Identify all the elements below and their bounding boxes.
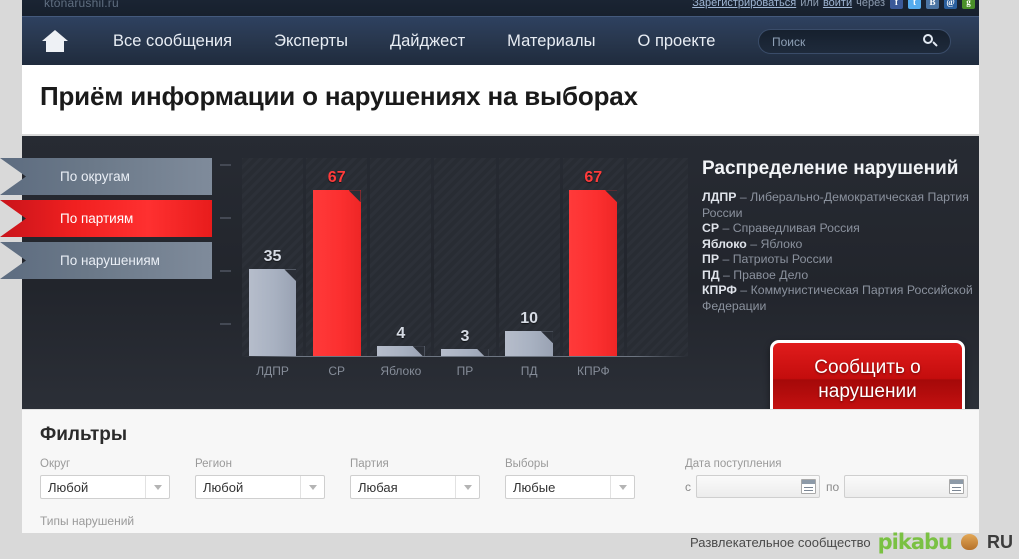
- tab-by-districts[interactable]: По округам: [0, 158, 212, 195]
- chevron-down-icon[interactable]: [455, 476, 479, 498]
- legend-entry-abbr: КПРФ: [702, 283, 737, 297]
- filter-select-elections[interactable]: Любые: [505, 475, 635, 499]
- chart-bar[interactable]: 35: [249, 269, 297, 356]
- twitter-icon[interactable]: t: [908, 0, 921, 9]
- home-icon-body: [46, 40, 64, 52]
- chart-column: 67: [563, 158, 624, 356]
- chart-y-axis: [218, 156, 236, 356]
- legend-entry: СР – Справедливая Россия: [702, 221, 982, 237]
- tab-by-violations-label: По нарушениям: [60, 253, 160, 268]
- report-violation-button[interactable]: Сообщить о нарушении: [770, 340, 965, 420]
- chart-column: 3: [434, 158, 495, 356]
- chart-bar[interactable]: 67: [569, 190, 617, 356]
- chart-bar-value: 67: [569, 169, 617, 187]
- top-strip: ktonarushil.ru Зарегистрироваться или во…: [22, 0, 979, 16]
- legend-entry: ПР – Патриоты России: [702, 252, 982, 268]
- filter-label-elections: Выборы: [505, 458, 635, 470]
- filter-group-region: Регион Любой: [195, 458, 325, 499]
- legend-entry: ЛДПР – Либерально-Демократическая Партия…: [702, 190, 982, 221]
- legend-entries: ЛДПР – Либерально-Демократическая Партия…: [702, 190, 982, 314]
- filter-select-district-value: Любой: [41, 480, 88, 495]
- search-input[interactable]: [759, 34, 909, 50]
- chart-y-tick: [220, 164, 231, 166]
- pikabu-watermark: Развлекательное сообщество pikabu RU: [690, 530, 1013, 554]
- chevron-down-icon-glyph: [309, 485, 317, 490]
- chart-bar-value: 4: [377, 325, 425, 343]
- date-to-prefix: по: [826, 480, 839, 494]
- chevron-down-icon[interactable]: [145, 476, 169, 498]
- nav-item-digest[interactable]: Дайджест: [369, 32, 486, 51]
- legend-title: Распределение нарушений: [702, 158, 982, 180]
- tab-by-districts-label: По округам: [60, 169, 130, 184]
- watermark-text: Развлекательное сообщество: [690, 535, 871, 550]
- legend-entry: КПРФ – Коммунистическая Партия Российско…: [702, 283, 982, 314]
- chart-y-tick: [220, 323, 231, 325]
- date-from-prefix: с: [685, 480, 691, 494]
- chart-column: 67: [306, 158, 367, 356]
- chart-x-label: ПД: [499, 359, 560, 378]
- filter-group-date: Дата поступления с по: [685, 458, 974, 499]
- filter-select-region[interactable]: Любой: [195, 475, 325, 499]
- chart-bar-corner: [284, 269, 296, 281]
- chart-legend: Распределение нарушений ЛДПР – Либеральн…: [702, 158, 982, 314]
- search-icon-handle: [932, 41, 938, 47]
- chart-column: 35: [242, 158, 303, 356]
- filter-select-district[interactable]: Любой: [40, 475, 170, 499]
- tab-by-parties[interactable]: По партиям: [0, 200, 212, 237]
- chart-bar-corner: [605, 190, 617, 202]
- chart-x-axis-line: [242, 356, 688, 357]
- report-button-line2: нарушении: [818, 381, 916, 402]
- chart-y-tick: [220, 270, 231, 272]
- calendar-icon[interactable]: [801, 479, 816, 494]
- chart-bar[interactable]: 3: [441, 349, 489, 356]
- chart-column: 10: [499, 158, 560, 356]
- auth-or-text: или: [800, 0, 819, 9]
- chart-x-label: ПР: [434, 359, 495, 378]
- filters-section: Фильтры Округ Любой Регион Любой Партия: [22, 409, 979, 533]
- nav-item-all-messages[interactable]: Все сообщения: [92, 32, 253, 51]
- nav-item-about[interactable]: О проекте: [617, 32, 737, 51]
- legend-entry: Яблоко – Яблоко: [702, 237, 982, 253]
- main-navigation: Все сообщения Эксперты Дайджест Материал…: [22, 16, 979, 65]
- register-link[interactable]: Зарегистрироваться: [692, 0, 796, 9]
- legend-entry-abbr: ЛДПР: [702, 190, 736, 204]
- report-violation-button-label: Сообщить о нарушении: [814, 356, 920, 404]
- filter-group-elections: Выборы Любые: [505, 458, 635, 499]
- chart-bar-corner: [349, 190, 361, 202]
- vkontakte-icon[interactable]: B: [926, 0, 939, 9]
- login-link[interactable]: войти: [823, 0, 852, 9]
- chart-x-label: [627, 359, 688, 378]
- chart-bar[interactable]: 4: [377, 346, 425, 356]
- filter-select-party-value: Любая: [351, 480, 398, 495]
- legend-entry-abbr: СР: [702, 221, 719, 235]
- chart-x-label: ЛДПР: [242, 359, 303, 378]
- legend-entry-abbr: ПД: [702, 268, 720, 282]
- date-from-input[interactable]: [696, 475, 820, 498]
- nav-items: Все сообщения Эксперты Дайджест Материал…: [92, 32, 736, 51]
- filter-label-region: Регион: [195, 458, 325, 470]
- nav-item-materials[interactable]: Материалы: [486, 32, 616, 51]
- page-root: ktonarushil.ru Зарегистрироваться или во…: [0, 0, 1019, 559]
- title-band: Приём информации о нарушениях на выборах: [22, 65, 979, 134]
- chart-x-label: Яблоко: [370, 359, 431, 378]
- chart-bar-corner: [541, 331, 553, 343]
- chart-y-tick: [220, 217, 231, 219]
- chart-bar[interactable]: 10: [505, 331, 553, 356]
- mailru-icon[interactable]: @: [944, 0, 957, 9]
- chart-plot-area: 3567431067: [242, 158, 688, 356]
- site-name: ktonarushil.ru: [44, 0, 119, 10]
- report-button-line1: Сообщить о: [814, 357, 920, 378]
- filter-label-district: Округ: [40, 458, 170, 470]
- chart-x-label: КПРФ: [563, 359, 624, 378]
- filter-label-date: Дата поступления: [685, 458, 974, 470]
- chart-x-axis-labels: ЛДПРСРЯблокоПРПДКПРФ: [242, 359, 688, 378]
- chevron-down-icon[interactable]: [610, 476, 634, 498]
- filter-group-party: Партия Любая: [350, 458, 480, 499]
- nav-item-experts[interactable]: Эксперты: [253, 32, 369, 51]
- date-range-row: с по: [685, 475, 974, 498]
- violation-types-label: Типы нарушений: [40, 514, 134, 528]
- chart-bar-value: 3: [441, 328, 489, 346]
- legend-entry: ПД – Правое Дело: [702, 268, 982, 284]
- filter-group-district: Округ Любой: [40, 458, 170, 499]
- legend-entry-abbr: Яблоко: [702, 237, 747, 251]
- chevron-down-icon-glyph: [464, 485, 472, 490]
- auth-via-text: через: [856, 0, 885, 9]
- chart-view-tabs: По округам По партиям По нарушениям: [0, 158, 212, 284]
- filter-select-elections-value: Любые: [506, 480, 555, 495]
- facebook-icon[interactable]: f: [890, 0, 903, 9]
- nut-icon: [961, 534, 978, 550]
- home-icon[interactable]: [40, 28, 70, 54]
- auth-area: Зарегистрироваться или войти через f t B…: [692, 0, 975, 9]
- legend-entry-abbr: ПР: [702, 252, 719, 266]
- search-icon[interactable]: [923, 34, 939, 50]
- chart-x-label: СР: [306, 359, 367, 378]
- filter-select-party[interactable]: Любая: [350, 475, 480, 499]
- chart-bar-value: 10: [505, 310, 553, 328]
- calendar-icon[interactable]: [949, 479, 964, 494]
- tab-by-parties-label: По партиям: [60, 211, 133, 226]
- violations-bar-chart: 3567431067 ЛДПРСРЯблокоПРПДКПРФ: [218, 156, 688, 396]
- chart-bar-value: 67: [313, 169, 361, 187]
- page-title: Приём информации о нарушениях на выборах: [40, 81, 638, 112]
- chart-column: 4: [370, 158, 431, 356]
- google-icon[interactable]: g: [962, 0, 975, 9]
- watermark-suffix: RU: [987, 532, 1013, 553]
- filter-label-party: Партия: [350, 458, 480, 470]
- chevron-down-icon-glyph: [619, 485, 627, 490]
- date-to-input[interactable]: [844, 475, 968, 498]
- chevron-down-icon[interactable]: [300, 476, 324, 498]
- chart-bar[interactable]: 67: [313, 190, 361, 356]
- tab-by-violations[interactable]: По нарушениям: [0, 242, 212, 279]
- filters-title: Фильтры: [40, 424, 127, 446]
- filter-select-region-value: Любой: [196, 480, 243, 495]
- filters-row: Округ Любой Регион Любой Партия Любая: [40, 458, 999, 499]
- chart-column: [627, 158, 688, 356]
- pikabu-logo: pikabu: [878, 530, 952, 554]
- search-box[interactable]: [758, 29, 951, 54]
- chart-bar-value: 35: [249, 248, 297, 266]
- chevron-down-icon-glyph: [154, 485, 162, 490]
